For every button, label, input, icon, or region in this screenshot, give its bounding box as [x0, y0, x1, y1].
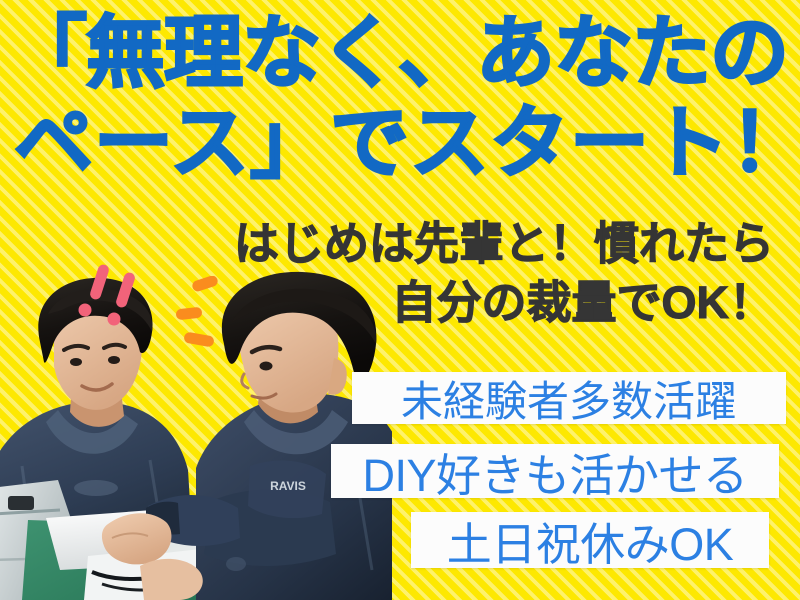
- svg-text:RAVIS: RAVIS: [270, 479, 306, 493]
- subtitle: はじめは先輩と！慣れたら 自分の裁量でOK！: [234, 214, 774, 332]
- sparkle-lines-icon: [166, 276, 226, 352]
- recruitment-banner: RAVIS 「無理なく、あなたの: [0, 0, 800, 600]
- badge-inexperienced-welcome: 未経験者多数活躍: [352, 372, 786, 424]
- headline-line-2: ペース」でスタート！: [0, 98, 800, 188]
- badge-weekend-holidays: 土日祝休みOK: [411, 512, 769, 568]
- headline-line-1: 「無理なく、あなたの: [0, 8, 800, 98]
- subtitle-line-2: 自分の裁量でOK！: [234, 273, 774, 332]
- double-exclamation-mark-icon: [78, 262, 148, 328]
- subtitle-line-1: はじめは先輩と！慣れたら: [234, 214, 774, 273]
- badge-diy-skills: DIY好きも活かせる: [331, 444, 779, 498]
- page-title: 「無理なく、あなたの ペース」でスタート！: [0, 8, 800, 188]
